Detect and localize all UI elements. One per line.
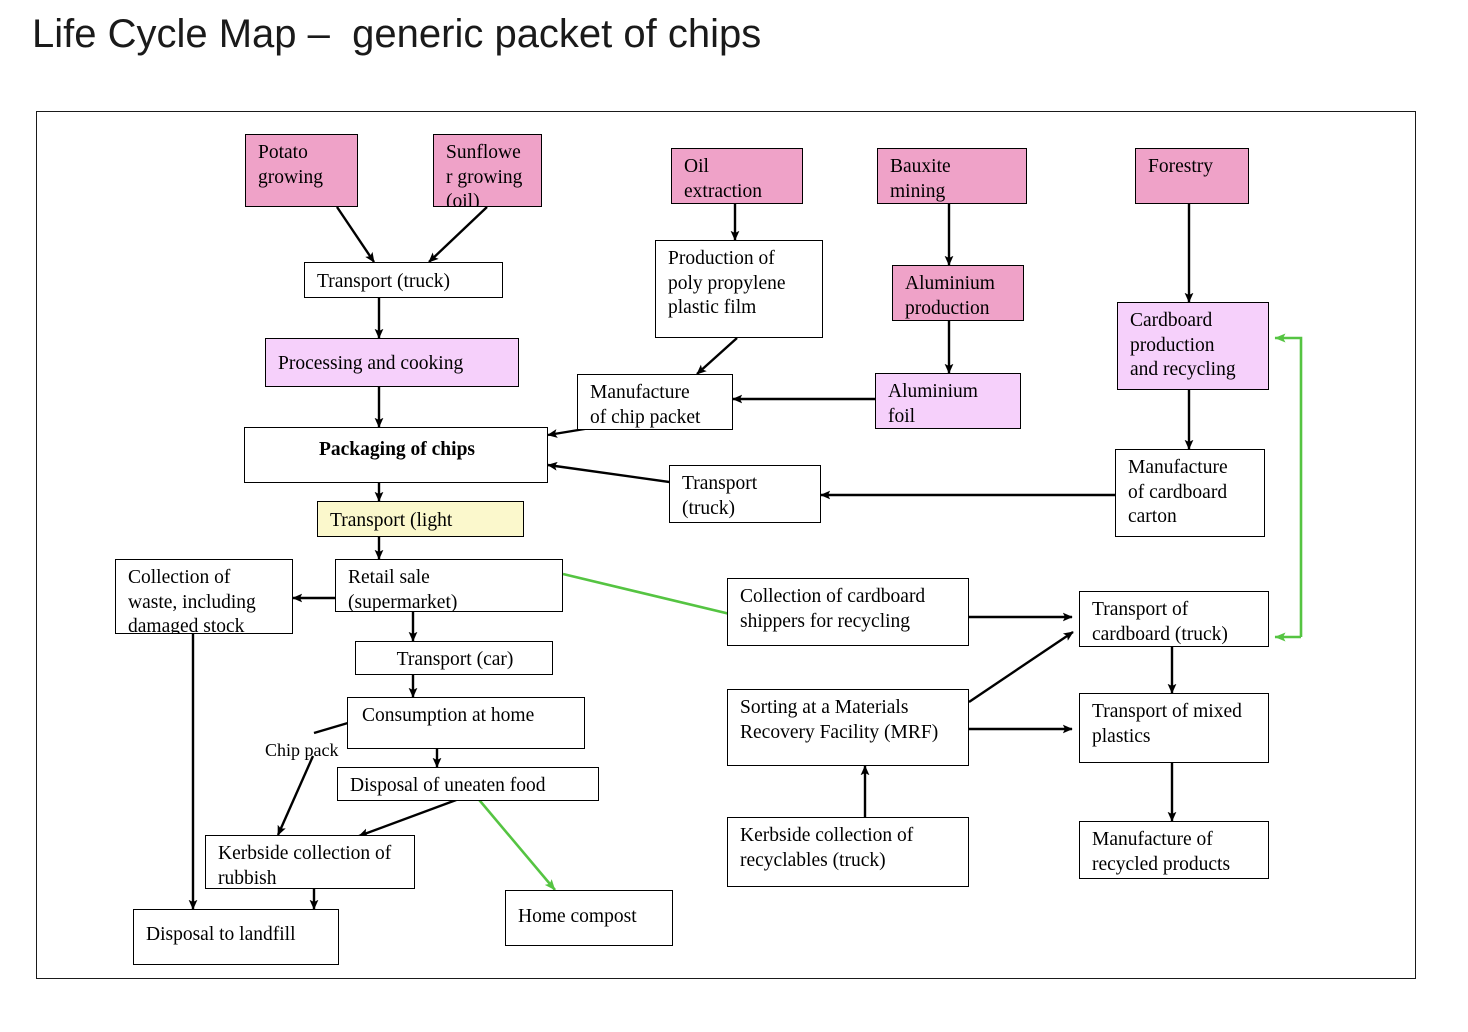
page-title: Life Cycle Map – generic packet of chips [32, 12, 761, 57]
node-retail-sale[interactable]: Retail sale (supermarket) [335, 559, 563, 612]
node-transport-of-cardboard[interactable]: Transport of cardboard (truck) [1079, 591, 1269, 647]
node-production-pp-film[interactable]: Production of poly propylene plastic fil… [655, 240, 823, 338]
chip-pack-label: Chip pack [265, 740, 339, 761]
node-transport-mixed-plastics[interactable]: Transport of mixed plastics [1079, 693, 1269, 763]
node-consumption-at-home[interactable]: Consumption at home [347, 697, 585, 749]
node-potato-growing[interactable]: Potato growing [245, 134, 358, 207]
node-manufacture-cardboard-carton[interactable]: Manufacture of cardboard carton [1115, 449, 1265, 537]
node-collection-of-waste[interactable]: Collection of waste, including damaged s… [115, 559, 293, 634]
node-aluminium-production[interactable]: Aluminium production [892, 265, 1024, 321]
diagram-canvas: Potato growing Sunflowe r growing (oil) … [36, 111, 1416, 979]
node-oil-extraction[interactable]: Oil extraction [671, 148, 803, 204]
node-sorting-mrf[interactable]: Sorting at a Materials Recovery Facility… [727, 689, 969, 766]
node-processing-and-cooking[interactable]: Processing and cooking [265, 338, 519, 387]
node-transport-truck-mid[interactable]: Transport (truck) [669, 465, 821, 523]
node-cardboard-production[interactable]: Cardboard production and recycling [1117, 302, 1269, 390]
node-transport-car[interactable]: Transport (car) [355, 641, 553, 675]
node-disposal-uneaten-food[interactable]: Disposal of uneaten food [337, 767, 599, 801]
node-disposal-to-landfill[interactable]: Disposal to landfill [133, 909, 339, 965]
node-forestry[interactable]: Forestry [1135, 148, 1249, 204]
node-manufacture-recycled-products[interactable]: Manufacture of recycled products [1079, 821, 1269, 879]
node-kerbside-collection-rubbish[interactable]: Kerbside collection of rubbish [205, 835, 415, 889]
node-sunflower-growing[interactable]: Sunflowe r growing (oil) [433, 134, 542, 207]
node-aluminium-foil[interactable]: Aluminium foil [875, 373, 1021, 429]
node-bauxite-mining[interactable]: Bauxite mining [877, 148, 1027, 204]
node-transport-truck-top[interactable]: Transport (truck) [304, 262, 503, 298]
node-collection-cardboard-shippers[interactable]: Collection of cardboard shippers for rec… [727, 578, 969, 646]
node-home-compost[interactable]: Home compost [505, 890, 673, 946]
node-kerbside-collection-recyclables[interactable]: Kerbside collection of recyclables (truc… [727, 817, 969, 887]
node-packaging-of-chips[interactable]: Packaging of chips [244, 427, 548, 483]
node-manufacture-chip-packet[interactable]: Manufacture of chip packet [577, 374, 733, 430]
node-transport-light[interactable]: Transport (light [317, 501, 524, 537]
